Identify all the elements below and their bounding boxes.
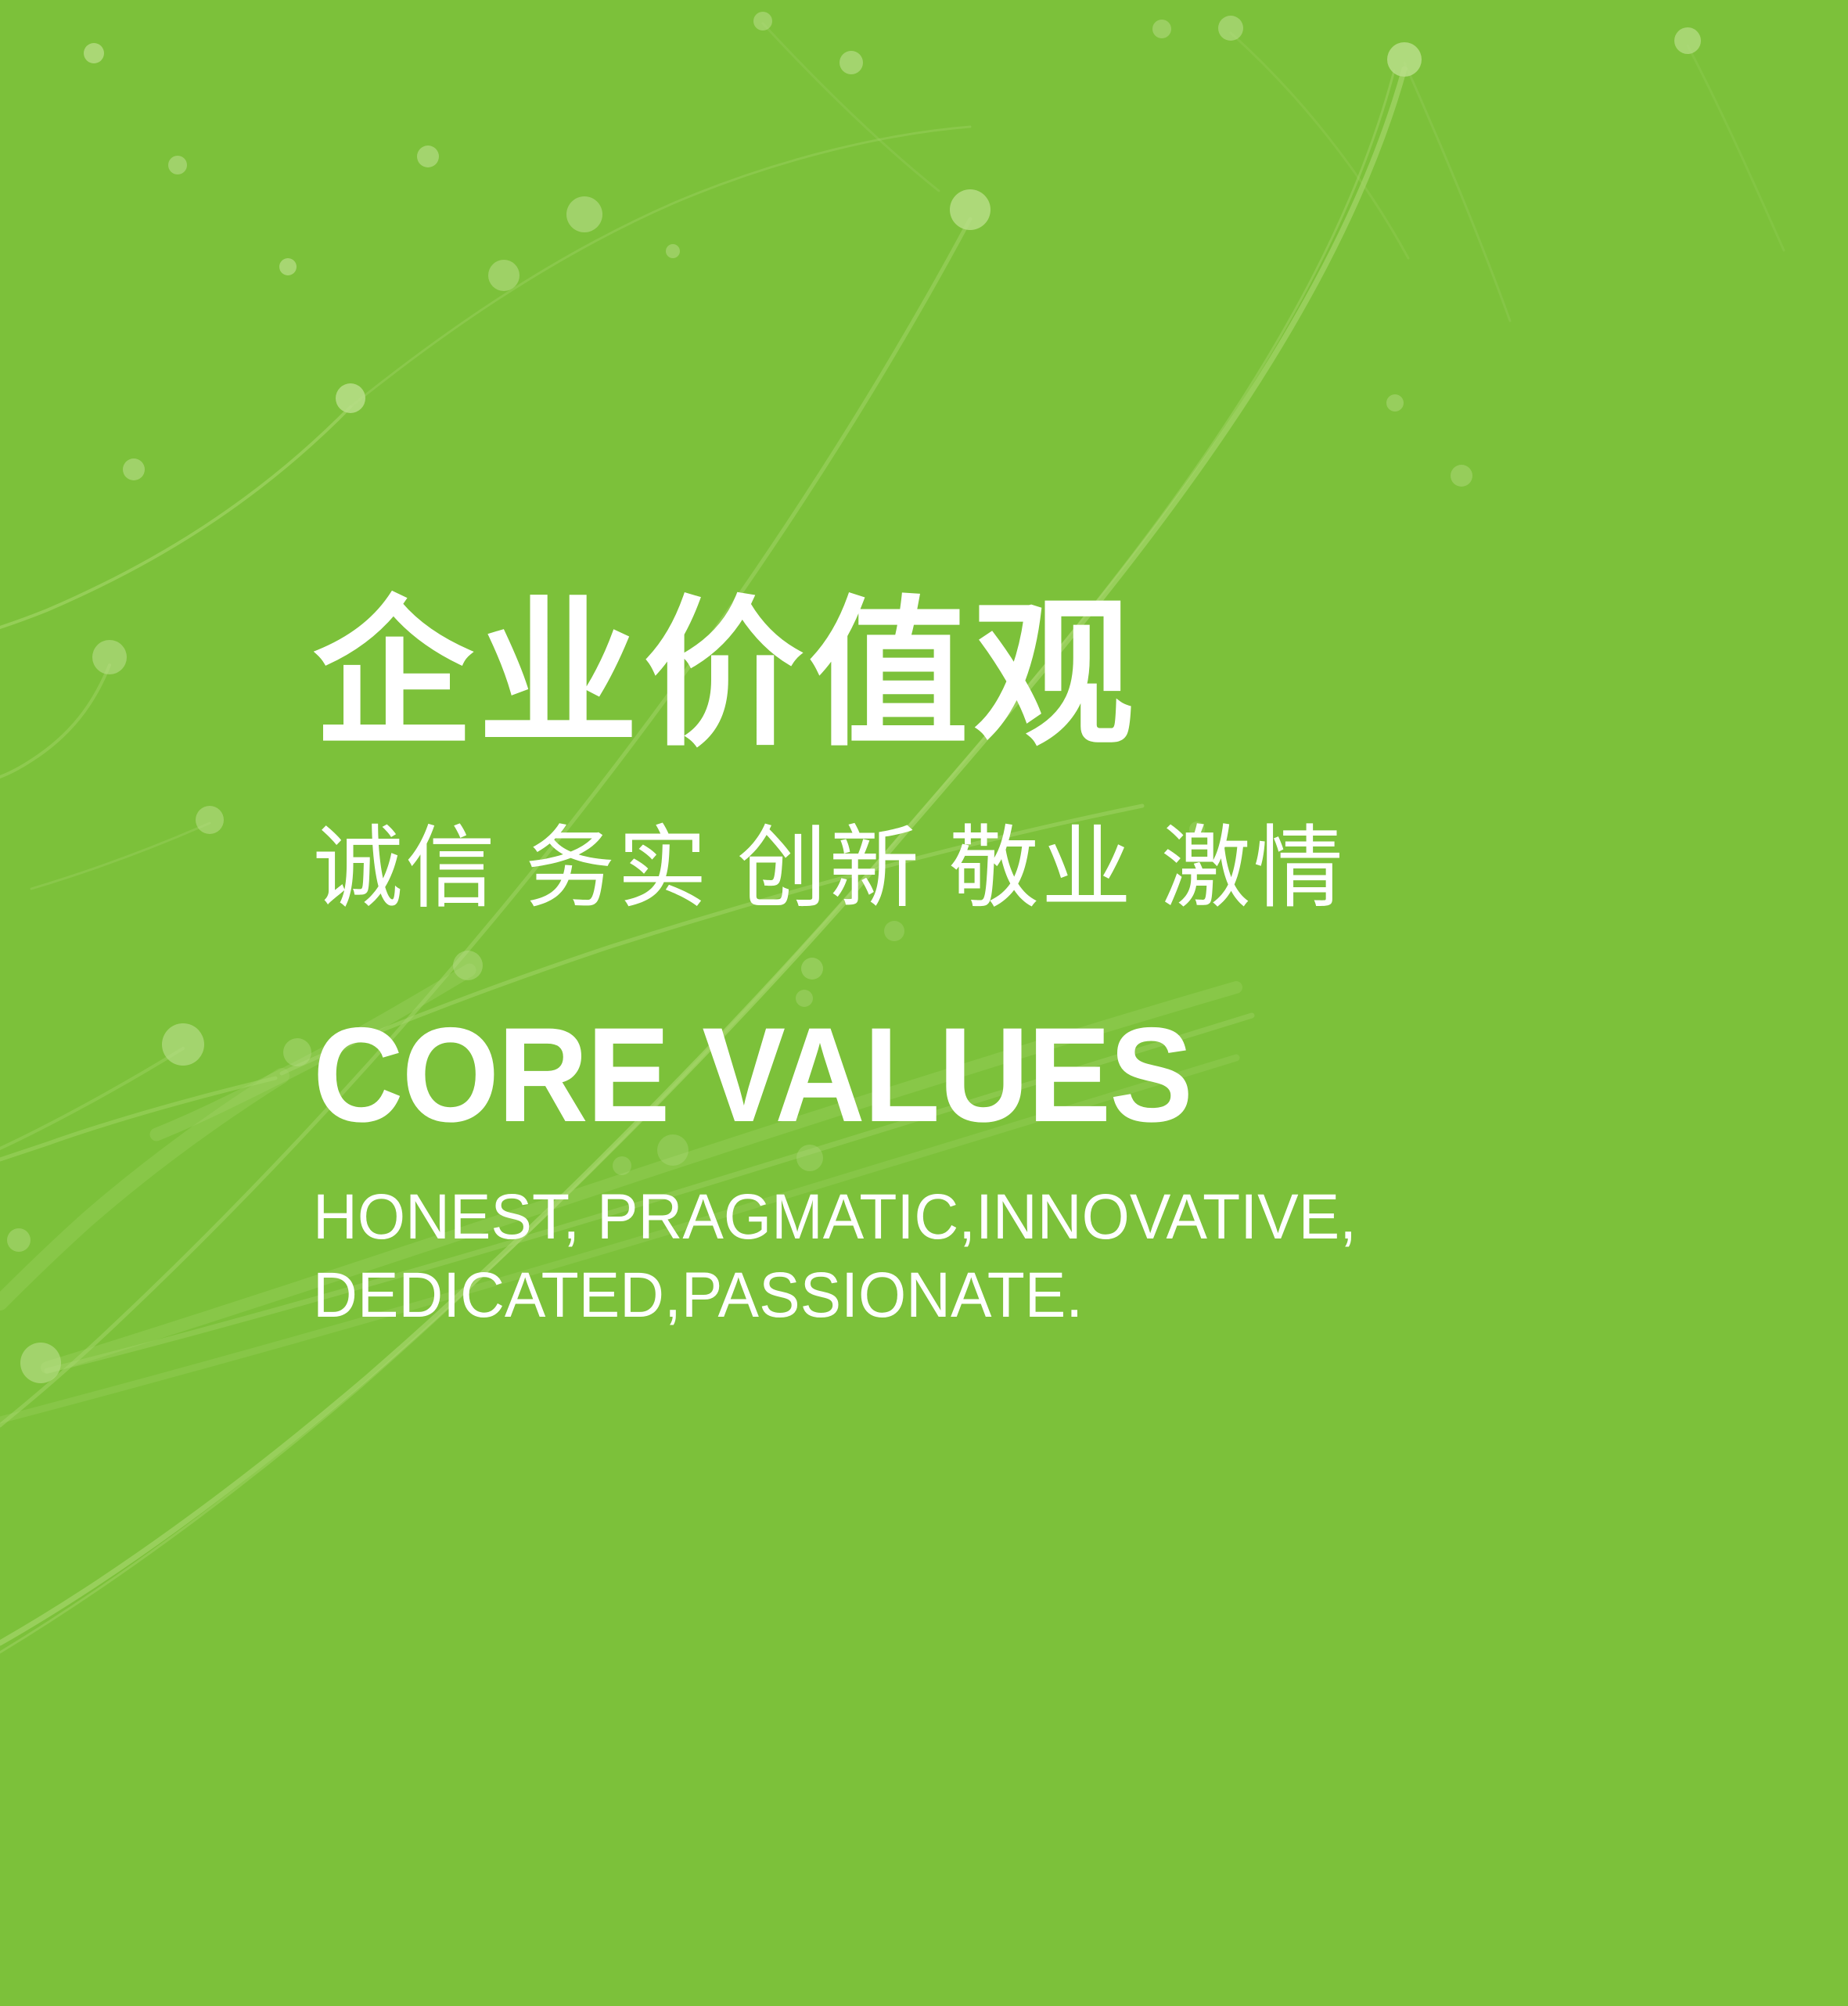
page-title-english: CORE VALUES — [313, 1008, 1608, 1142]
subtitle-chinese: 诚信 务实 创新 敬业 激情 — [313, 824, 1706, 914]
body-text-line-1: HONEST, PRAGMATIC,INNOVATIVE, — [313, 1178, 1650, 1256]
core-values-poster: 企业价值观 诚信 务实 创新 敬业 激情 CORE VALUES HONEST,… — [0, 0, 1848, 2006]
page-title-chinese: 企业价值观 — [313, 595, 1706, 755]
body-text-english: HONEST, PRAGMATIC,INNOVATIVE, DEDICATED,… — [313, 1178, 1650, 1335]
body-text-line-2: DEDICATED,PASSIONATE. — [313, 1256, 1650, 1335]
text-block: 企业价值观 诚信 务实 创新 敬业 激情 CORE VALUES HONEST,… — [313, 595, 1706, 1335]
